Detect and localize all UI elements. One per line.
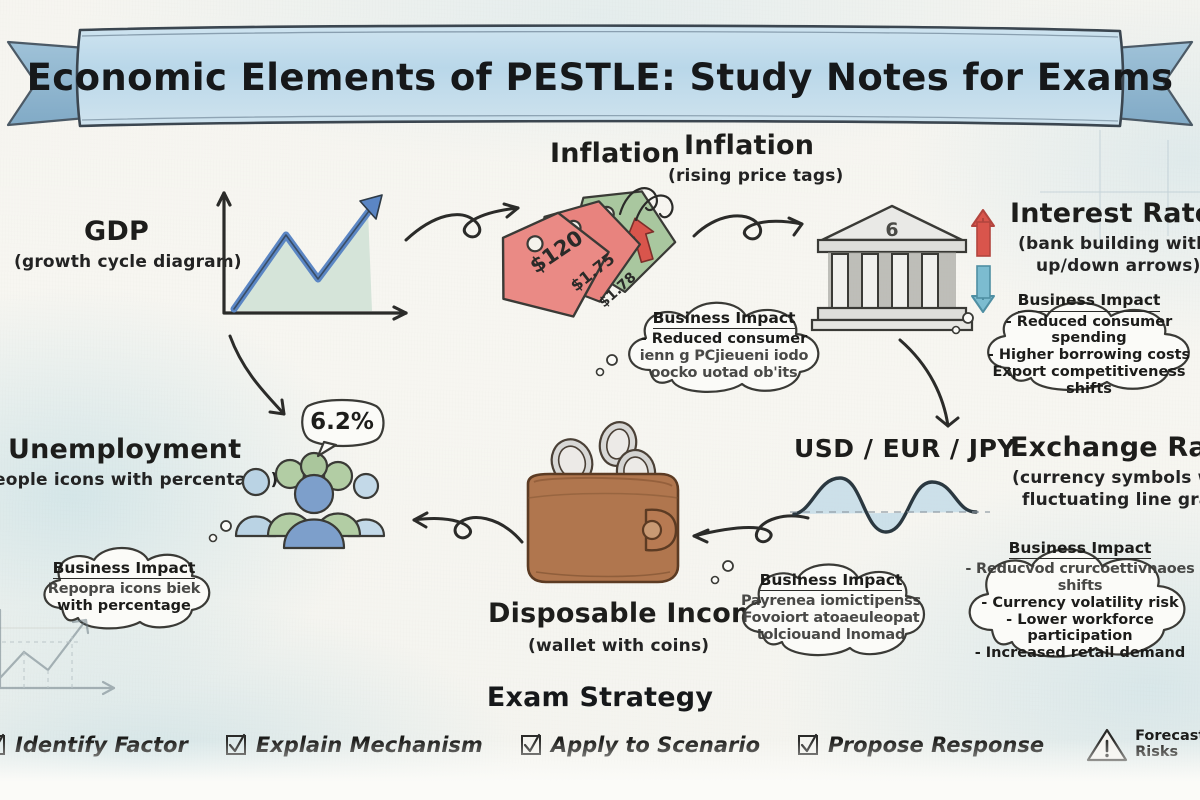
exchange-rates-subtitle-2: fluctuating line graph)	[1022, 490, 1200, 510]
disposable-income-subtitle: (wallet with coins)	[528, 636, 709, 656]
thought-cloud-shape	[975, 296, 1200, 394]
cloud-exchange-impact: Business Impact - Reducvod crurcoettivna…	[958, 540, 1200, 662]
bottom-fade	[0, 740, 1200, 800]
interest-rates-title: Interest Rates	[1010, 200, 1200, 228]
people-group-icon	[232, 444, 392, 554]
thought-cloud-shape	[732, 556, 930, 660]
interest-rates-subtitle-2: up/down arrows)	[1036, 256, 1200, 276]
cloud-bubbles-inflation	[592, 352, 622, 382]
bank-pediment-number: 6	[885, 219, 898, 241]
cloud-bubbles-disposable	[706, 556, 738, 590]
interest-rates-subtitle-1: (bank building with	[1018, 234, 1200, 254]
unemployment-title: Unemployment	[8, 436, 241, 464]
exam-strategy-title: Exam Strategy	[0, 682, 1200, 713]
exchange-rates-title: Exchange Rates	[1010, 434, 1200, 462]
banner: Economic Elements of PESTLE: Study Notes…	[0, 22, 1200, 137]
inflation-title-right: Inflation	[684, 132, 814, 160]
arrow-interest-to-exchange	[890, 336, 980, 446]
speech-bubble-shape	[296, 398, 388, 460]
wallet-with-coins-icon	[510, 424, 700, 594]
thought-cloud-shape	[616, 296, 832, 396]
infographic-canvas: Economic Elements of PESTLE: Study Notes…	[0, 0, 1200, 800]
wave-line-graph-icon	[790, 466, 1000, 542]
page-title: Economic Elements of PESTLE: Study Notes…	[0, 56, 1200, 99]
cloud-inflation-impact: Business Impact - Reduced consumer ienn …	[616, 296, 832, 396]
cloud-interest-impact: Business Impact - Reduced consumer spend…	[975, 296, 1200, 394]
thought-cloud-shape	[958, 540, 1200, 662]
unemployment-percentage-bubble: 6.2%	[296, 398, 388, 452]
line-chart-upward-icon	[200, 185, 420, 340]
exchange-currencies-label: USD / EUR / JPY	[794, 434, 1016, 463]
gdp-title: GDP	[84, 218, 149, 246]
cloud-disposable-impact: Business Impact Payrenea iomictipenss Fo…	[732, 556, 930, 660]
inflation-title: Inflation	[550, 140, 680, 168]
cloud-bubbles-unemployment	[204, 518, 236, 550]
exchange-rates-subtitle-1: (currency symbols with	[1012, 468, 1200, 488]
